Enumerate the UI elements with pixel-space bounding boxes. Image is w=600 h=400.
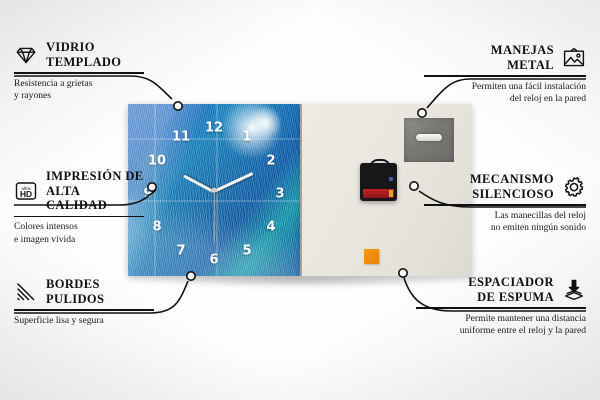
face-grid-line (216, 104, 218, 276)
clock-mechanism-box (360, 163, 397, 201)
clock-numeral-10: 10 (148, 155, 166, 168)
face-grid-line (128, 200, 300, 202)
callout-subtitle: Permite mantener una distancia uniforme … (416, 313, 586, 339)
callout-rule (416, 307, 586, 309)
battery-terminal (389, 190, 393, 197)
clock-numeral-9: 9 (143, 188, 152, 201)
callout-title: VIDRIO TEMPLADO (46, 40, 121, 69)
callout-title: ESPACIADOR DE ESPUMA (468, 275, 554, 304)
clock-numeral-5: 5 (242, 245, 251, 258)
callout-title: BORDES PULIDOS (46, 277, 104, 306)
face-grid-line (154, 104, 156, 276)
face-highlight (248, 106, 282, 140)
clock-minute-hand (213, 172, 253, 193)
svg-text:HD: HD (20, 189, 32, 199)
face-grid-line (128, 138, 300, 140)
product-infographic: 12 1 2 3 4 5 6 7 8 9 10 11 (0, 0, 600, 400)
diamond-icon (14, 43, 38, 67)
clock-second-hand (213, 191, 214, 243)
callout-subtitle: Resistencia a grietas y rayones (14, 78, 144, 104)
clock-numeral-7: 7 (176, 245, 185, 258)
clock-numeral-4: 4 (266, 221, 275, 234)
clock-numeral-12: 12 (205, 122, 223, 135)
clock-front-face: 12 1 2 3 4 5 6 7 8 9 10 11 (128, 104, 300, 276)
picture-frame-hanger-icon (562, 46, 586, 70)
callout-rule (424, 75, 586, 77)
callout-espaciador-de-espuma[interactable]: ESPACIADOR DE ESPUMA Permite mantener un… (416, 275, 586, 338)
callout-vidrio-templado[interactable]: VIDRIO TEMPLADO Resistencia a grietas y … (14, 40, 144, 103)
callout-subtitle: Las manecillas del reloj no emiten ningú… (424, 210, 586, 236)
mechanism-detail (389, 177, 393, 181)
callout-rule (14, 309, 154, 311)
callout-title: MANEJAS METAL (491, 43, 554, 72)
callout-title: MECANISMO SILENCIOSO (470, 172, 554, 201)
foam-spacer-arrow-icon (562, 278, 586, 302)
metal-hanger-plate (404, 118, 454, 162)
callout-manejas-metal[interactable]: MANEJAS METAL Permiten una fácil instala… (424, 43, 586, 106)
callout-title: IMPRESIÓN DE ALTA CALIDAD (46, 169, 144, 213)
panel-seam (300, 104, 302, 276)
foam-spacer (364, 249, 379, 264)
mechanism-hook (369, 159, 391, 169)
clock-hand-hub (212, 188, 217, 193)
clock-numeral-2: 2 (266, 155, 275, 168)
callout-subtitle: Superficie lisa y segura (14, 315, 154, 328)
product-image: 12 1 2 3 4 5 6 7 8 9 10 11 (128, 104, 472, 276)
gear-icon (562, 175, 586, 199)
callout-mecanismo-silencioso[interactable]: MECANISMO SILENCIOSO Las manecillas del … (424, 172, 586, 235)
callout-rule (424, 204, 586, 206)
polished-edges-icon (14, 280, 38, 304)
callout-rule (14, 72, 144, 74)
clock-numeral-1: 1 (242, 131, 251, 144)
clock-numeral-6: 6 (209, 254, 218, 267)
callout-subtitle: Colores intensos e imagen vívida (14, 221, 144, 247)
callout-impresion-alta-calidad[interactable]: ultra HD IMPRESIÓN DE ALTA CALIDAD Color… (14, 169, 144, 247)
battery (363, 189, 394, 198)
clock-numeral-3: 3 (275, 188, 284, 201)
clock-numeral-11: 11 (172, 131, 190, 144)
callout-rule (14, 216, 144, 218)
callout-bordes-pulidos[interactable]: BORDES PULIDOS Superficie lisa y segura (14, 277, 154, 327)
ultra-hd-icon: ultra HD (14, 179, 38, 203)
clock-hour-hand (183, 174, 215, 193)
clock-numeral-8: 8 (152, 221, 161, 234)
hanger-slot (416, 134, 442, 141)
callout-subtitle: Permiten una fácil instalación del reloj… (424, 81, 586, 107)
